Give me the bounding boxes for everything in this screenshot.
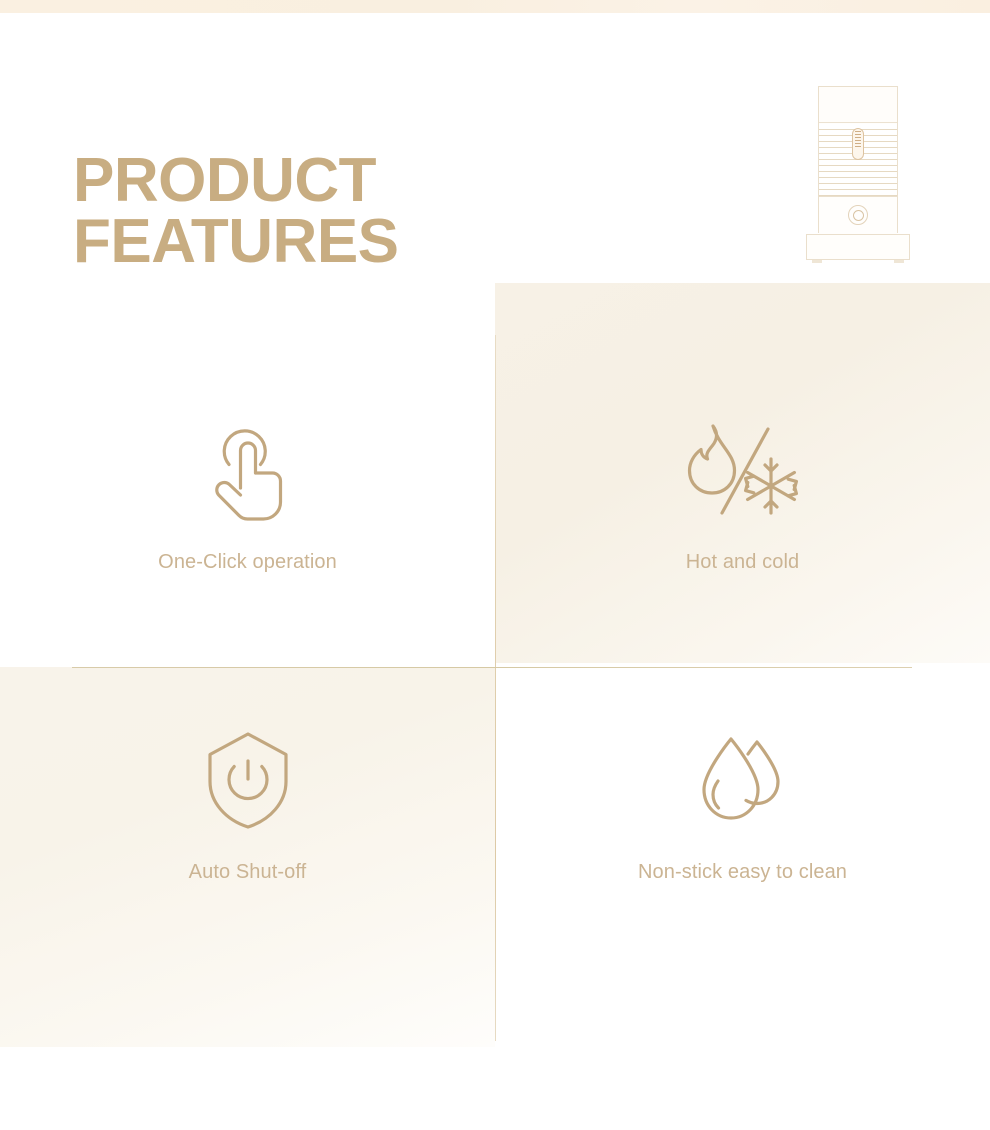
product-image-milk-frother (806, 86, 918, 266)
product-features-page: PRODUCT FEATURES (0, 0, 990, 1130)
product-lid (819, 87, 897, 123)
one-click-tap-icon (0, 415, 495, 525)
hot-and-cold-icon (495, 415, 990, 525)
product-power-button-icon (848, 205, 868, 225)
water-droplets-icon (495, 725, 990, 835)
page-title: PRODUCT FEATURES (73, 150, 543, 273)
product-foot-right (894, 260, 904, 263)
feature-hot-and-cold: Hot and cold (495, 415, 990, 574)
feature-non-stick-easy-to-clean: Non-stick easy to clean (495, 725, 990, 884)
top-accent-band (0, 0, 990, 13)
feature-auto-shut-off: Auto Shut-off (0, 725, 495, 884)
shield-power-icon (0, 725, 495, 835)
feature-one-click-operation: One-Click operation (0, 415, 495, 574)
divider-horizontal (72, 667, 912, 668)
feature-label: Auto Shut-off (0, 861, 495, 884)
feature-label: Hot and cold (495, 551, 990, 574)
product-base (806, 234, 910, 260)
product-foot-left (812, 260, 822, 263)
product-badge-label (852, 128, 864, 160)
product-body (818, 86, 898, 233)
feature-label: Non-stick easy to clean (495, 861, 990, 884)
feature-label: One-Click operation (0, 551, 495, 574)
